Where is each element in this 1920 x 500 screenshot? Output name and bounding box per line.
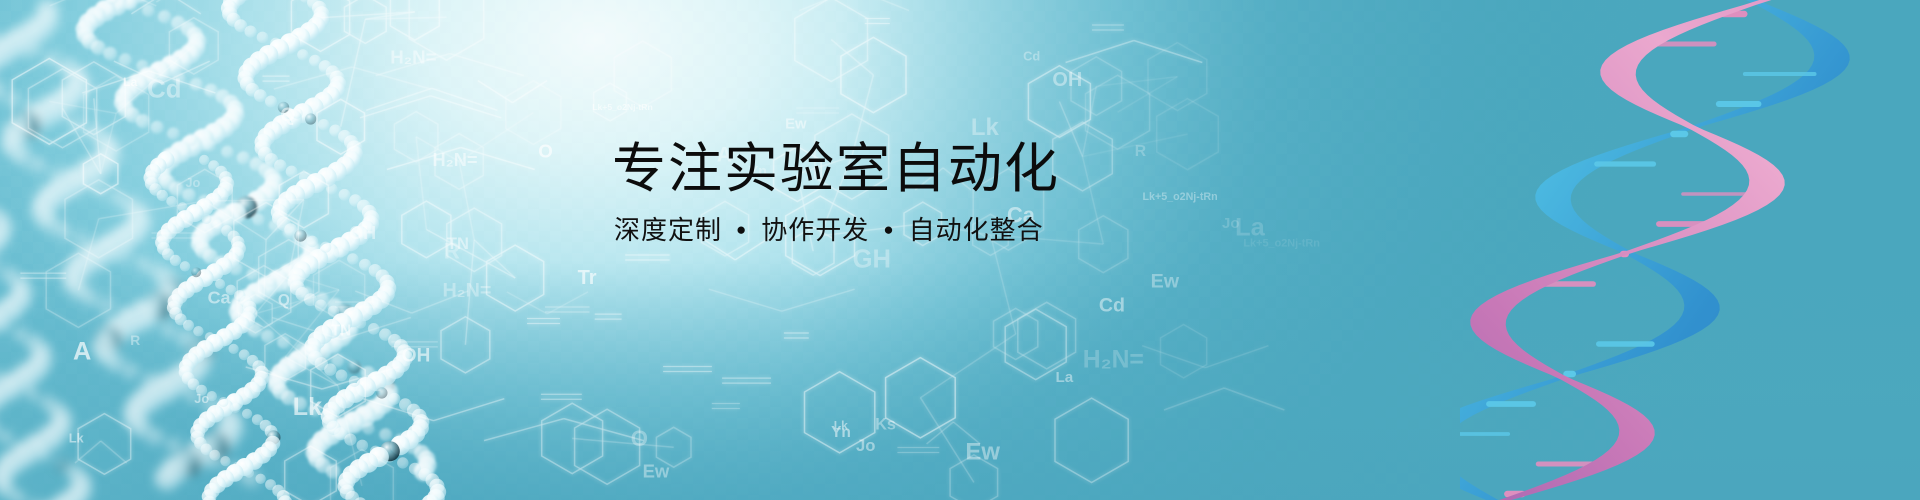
svg-text:Ew: Ew [785, 116, 807, 132]
svg-text:H₂N=: H₂N= [390, 47, 436, 68]
svg-text:A: A [73, 338, 91, 366]
hero-text-block: 专注实验室自动化 深度定制 ● 协作开发 ● 自动化整合 [612, 140, 1172, 245]
chemical-structure-overlay: TNYnCaRGHCdOHRLkCdAH₂N=JoLk+5_o2Nj-tRnLa… [0, 0, 1320, 500]
page-title: 专注实验室自动化 [612, 140, 1172, 198]
subtitle-item-1: 深度定制 [614, 216, 722, 245]
svg-text:Jo: Jo [856, 436, 875, 455]
svg-text:La: La [123, 75, 138, 89]
svg-text:O: O [538, 140, 553, 161]
svg-text:Ks: Ks [875, 415, 896, 433]
svg-text:Ew: Ew [965, 438, 1000, 465]
svg-text:O: O [631, 426, 648, 451]
svg-text:TN: TN [447, 235, 469, 253]
svg-text:H₂N=: H₂N= [443, 280, 492, 302]
background-checker-texture [0, 0, 1920, 500]
subtitle-item-3: 自动化整合 [909, 216, 1044, 245]
svg-text:La: La [1056, 369, 1074, 386]
svg-text:Cd: Cd [1099, 294, 1125, 316]
svg-text:OH: OH [349, 223, 376, 243]
svg-text:R: R [130, 333, 140, 348]
background-right-tint [0, 0, 1920, 500]
svg-text:Q: Q [278, 292, 290, 309]
background-bottom-tint [0, 0, 1920, 500]
svg-text:OH: OH [402, 346, 431, 367]
svg-text:H₂N=: H₂N= [433, 150, 478, 170]
svg-text:Jo: Jo [185, 175, 200, 190]
svg-text:Lk: Lk [971, 114, 1000, 141]
ribbon-dna-graphic [1460, 0, 1920, 500]
svg-text:R: R [444, 239, 460, 264]
hero-banner: TNYnCaRGHCdOHRLkCdAH₂N=JoLk+5_o2Nj-tRnLa… [0, 0, 1920, 500]
svg-text:Cd: Cd [147, 75, 181, 103]
svg-text:Lk+5_o2Nj-tRn: Lk+5_o2Nj-tRn [1243, 237, 1320, 249]
svg-text:Lk: Lk [834, 418, 848, 432]
svg-text:Jo: Jo [194, 392, 209, 406]
svg-text:Jo: Jo [1222, 215, 1240, 232]
bullet-separator-icon: ● [736, 221, 747, 238]
svg-text:H₂N=: H₂N= [1083, 346, 1144, 373]
hero-subtitle: 深度定制 ● 协作开发 ● 自动化整合 [614, 216, 1172, 245]
svg-text:Yn: Yn [831, 424, 851, 441]
svg-text:OH: OH [1052, 69, 1082, 91]
svg-text:Q: Q [280, 105, 295, 126]
svg-text:Ca: Ca [208, 288, 232, 308]
svg-text:Tr: Tr [578, 267, 597, 289]
svg-text:La: La [1235, 214, 1266, 242]
svg-text:Lk: Lk [69, 431, 85, 446]
svg-text:Ew: Ew [1151, 271, 1180, 293]
beaded-dna-helix-graphic [0, 0, 680, 500]
background-gradient [0, 0, 1920, 500]
svg-text:Ew: Ew [643, 460, 670, 481]
svg-text:Lk: Lk [293, 393, 322, 421]
svg-text:GH: GH [853, 245, 891, 273]
svg-text:Cd: Cd [1023, 48, 1040, 63]
svg-text:TN: TN [331, 322, 352, 339]
bullet-separator-icon: ● [883, 221, 894, 238]
background-left-glow [0, 0, 1920, 500]
subtitle-item-2: 协作开发 [761, 216, 869, 245]
svg-text:Lk+5_o2Nj-tRn: Lk+5_o2Nj-tRn [592, 102, 652, 112]
